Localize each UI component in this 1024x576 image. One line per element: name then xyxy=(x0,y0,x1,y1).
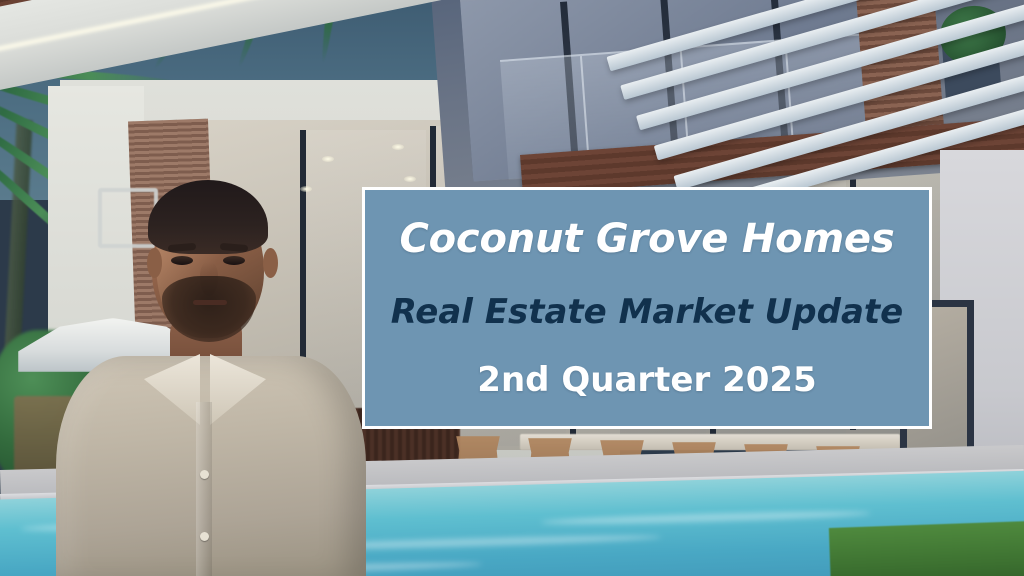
ceiling-light xyxy=(322,156,334,162)
title-card: Coconut Grove Homes Real Estate Market U… xyxy=(362,187,932,429)
ear-left xyxy=(147,248,162,278)
pool-shimmer xyxy=(541,509,871,526)
title-card-line-3: 2nd Quarter 2025 xyxy=(477,363,816,397)
shirt-button xyxy=(200,470,209,479)
eye-left xyxy=(171,256,193,265)
ceiling-light xyxy=(392,144,404,150)
presenter xyxy=(60,170,360,576)
mouth xyxy=(193,300,227,305)
shirt-button xyxy=(200,532,209,541)
shirt-placket xyxy=(196,402,212,576)
ear-right xyxy=(263,248,278,278)
title-card-line-1: Coconut Grove Homes xyxy=(400,219,895,259)
video-frame: Coconut Grove Homes Real Estate Market U… xyxy=(0,0,1024,576)
ceiling-light xyxy=(404,176,416,182)
title-card-line-2: Real Estate Market Update xyxy=(391,295,903,329)
lawn-grass xyxy=(829,520,1024,576)
hair xyxy=(148,180,268,254)
eye-right xyxy=(223,256,245,265)
